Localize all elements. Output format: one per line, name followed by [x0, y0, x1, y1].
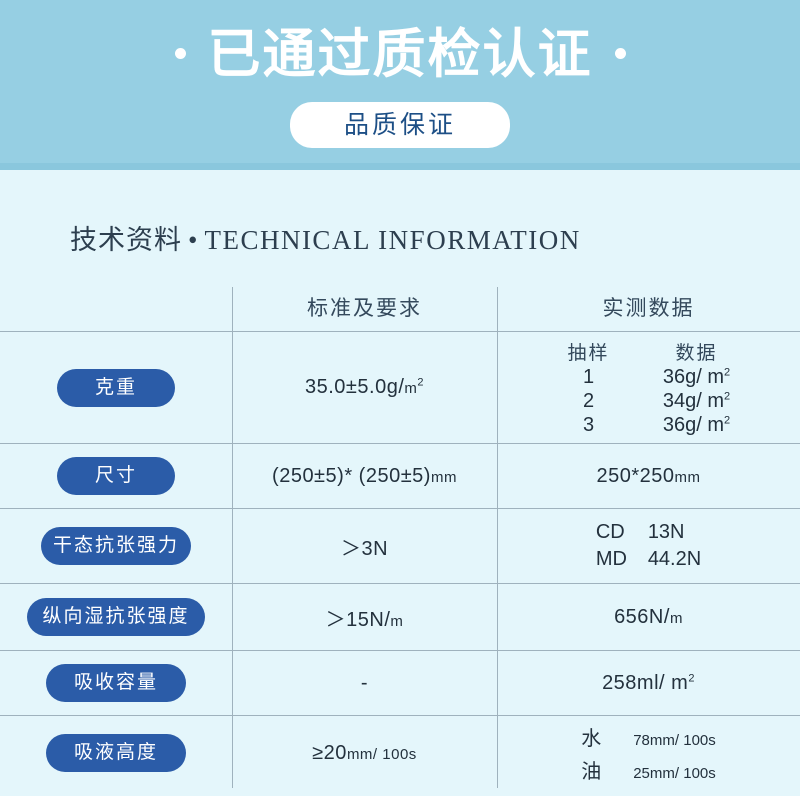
- section-title-separator: •: [182, 225, 204, 255]
- sample-number: 1: [541, 366, 637, 389]
- sample-row: 2 34g/ m2: [541, 390, 757, 413]
- decorative-dot-left-icon: [175, 48, 186, 59]
- header-banner: 已通过质检认证 品质保证: [0, 0, 800, 170]
- row-measured-cell: 水 78mm/ 100s 油 25mm/ 100s: [497, 716, 800, 790]
- row-label-cell: 干态抗张强力: [0, 527, 232, 565]
- table-row: 纵向湿抗张强度 ＞15N/m 656N/m: [0, 584, 800, 651]
- measured-pair: CD 13N: [596, 521, 701, 544]
- table-row: 克重 35.0±5.0g/m2 抽样 数据 1 36g/ m2 2 34g/ m…: [0, 332, 800, 444]
- measured-pair: 水 78mm/ 100s: [581, 722, 716, 751]
- row-label-pill: 干态抗张强力: [41, 527, 191, 565]
- row-standard-value: -: [361, 672, 368, 695]
- row-label-pill: 克重: [57, 369, 175, 407]
- sample-value: 34g/ m2: [637, 390, 757, 413]
- sample-row: 1 36g/ m2: [541, 366, 757, 389]
- row-label-pill: 纵向湿抗张强度: [27, 598, 205, 636]
- row-label-cell: 纵向湿抗张强度: [0, 598, 232, 636]
- sample-value: 36g/ m2: [637, 414, 757, 437]
- row-label-pill: 尺寸: [57, 457, 175, 495]
- row-label-cell: 吸收容量: [0, 664, 232, 702]
- measured-pair: 油 25mm/ 100s: [581, 755, 716, 784]
- section-title-en: TECHNICAL INFORMATION: [204, 225, 580, 255]
- row-measured-cell: 656N/m: [497, 606, 800, 629]
- sample-column-header: 抽样: [541, 338, 637, 365]
- header-measured-text: 实测数据: [603, 292, 695, 322]
- sample-subtable-header: 抽样 数据: [541, 338, 757, 365]
- sample-subtable: 抽样 数据 1 36g/ m2 2 34g/ m2 3 36g/ m2: [541, 332, 757, 443]
- table-row: 尺寸 (250±5)* (250±5)mm 250*250mm: [0, 444, 800, 509]
- row-measured-cell: 258ml/ m2: [497, 672, 800, 695]
- sample-number: 3: [541, 414, 637, 437]
- row-label-cell: 尺寸: [0, 457, 232, 495]
- section-title-cn: 技术资料: [70, 225, 182, 255]
- row-label-pill: 吸液高度: [46, 734, 186, 772]
- row-standard-cell: ＞15N/m: [232, 603, 497, 632]
- table-row: 干态抗张强力 ＞3N CD 13N MD 44.2N: [0, 509, 800, 584]
- row-standard-cell: 35.0±5.0g/m2: [232, 376, 497, 399]
- measured-pair-list: 水 78mm/ 100s 油 25mm/ 100s: [581, 716, 716, 790]
- row-standard-value: 35.0±5.0g/m2: [305, 376, 424, 399]
- row-standard-cell: ＞3N: [232, 532, 497, 561]
- measured-pair-value: 13N: [648, 521, 685, 544]
- row-measured-value: 250*250mm: [596, 465, 700, 488]
- banner-title: 已通过质检认证: [208, 25, 593, 85]
- row-standard-value: (250±5)* (250±5)mm: [272, 465, 457, 488]
- data-column-header: 数据: [637, 338, 757, 365]
- sample-row: 3 36g/ m2: [541, 414, 757, 437]
- sample-number: 2: [541, 390, 637, 413]
- row-label-cell: 吸液高度: [0, 734, 232, 772]
- column-divider-left: [232, 287, 233, 788]
- measured-pair-value: 25mm/ 100s: [633, 761, 716, 784]
- header-cell-measured: 实测数据: [497, 292, 800, 322]
- banner-title-row: 已通过质检认证: [175, 22, 626, 88]
- row-standard-value: ≥20mm/ 100s: [312, 742, 417, 765]
- measured-pair-value: 78mm/ 100s: [633, 728, 716, 751]
- row-standard-value: ＞15N/m: [326, 603, 404, 632]
- row-standard-value: ＞3N: [341, 532, 388, 561]
- measured-pair-key: 水: [581, 722, 633, 751]
- table-row: 吸收容量 - 258ml/ m2: [0, 651, 800, 716]
- row-measured-cell: 抽样 数据 1 36g/ m2 2 34g/ m2 3 36g/ m2: [497, 332, 800, 443]
- section-title: 技术资料•TECHNICAL INFORMATION: [70, 218, 800, 257]
- quality-guarantee-badge: 品质保证: [290, 102, 510, 148]
- row-standard-cell: ≥20mm/ 100s: [232, 742, 497, 765]
- header-standard-text: 标准及要求: [307, 292, 422, 322]
- measured-pair-value: 44.2N: [648, 548, 701, 571]
- measured-pair: MD 44.2N: [596, 548, 701, 571]
- row-standard-cell: -: [232, 672, 497, 695]
- row-measured-value: 258ml/ m2: [602, 672, 695, 695]
- measured-pair-key: 油: [581, 755, 633, 784]
- banner-underline: [0, 163, 800, 170]
- measured-pair-key: CD: [596, 521, 648, 544]
- measured-pair-list: CD 13N MD 44.2N: [596, 515, 701, 577]
- row-label-cell: 克重: [0, 369, 232, 407]
- table-row: 吸液高度 ≥20mm/ 100s 水 78mm/ 100s 油 25mm/ 10…: [0, 716, 800, 790]
- column-divider-right: [497, 287, 498, 788]
- table-header-row: 标准及要求 实测数据: [0, 283, 800, 332]
- measured-pair-key: MD: [596, 548, 648, 571]
- row-standard-cell: (250±5)* (250±5)mm: [232, 465, 497, 488]
- sample-value: 36g/ m2: [637, 366, 757, 389]
- technical-information-table: 标准及要求 实测数据 克重 35.0±5.0g/m2 抽样 数据 1 36g/ …: [0, 283, 800, 790]
- row-measured-cell: 250*250mm: [497, 465, 800, 488]
- header-cell-standard: 标准及要求: [232, 292, 497, 322]
- row-measured-cell: CD 13N MD 44.2N: [497, 515, 800, 577]
- row-measured-value: 656N/m: [614, 606, 683, 629]
- decorative-dot-right-icon: [615, 48, 626, 59]
- row-label-pill: 吸收容量: [46, 664, 186, 702]
